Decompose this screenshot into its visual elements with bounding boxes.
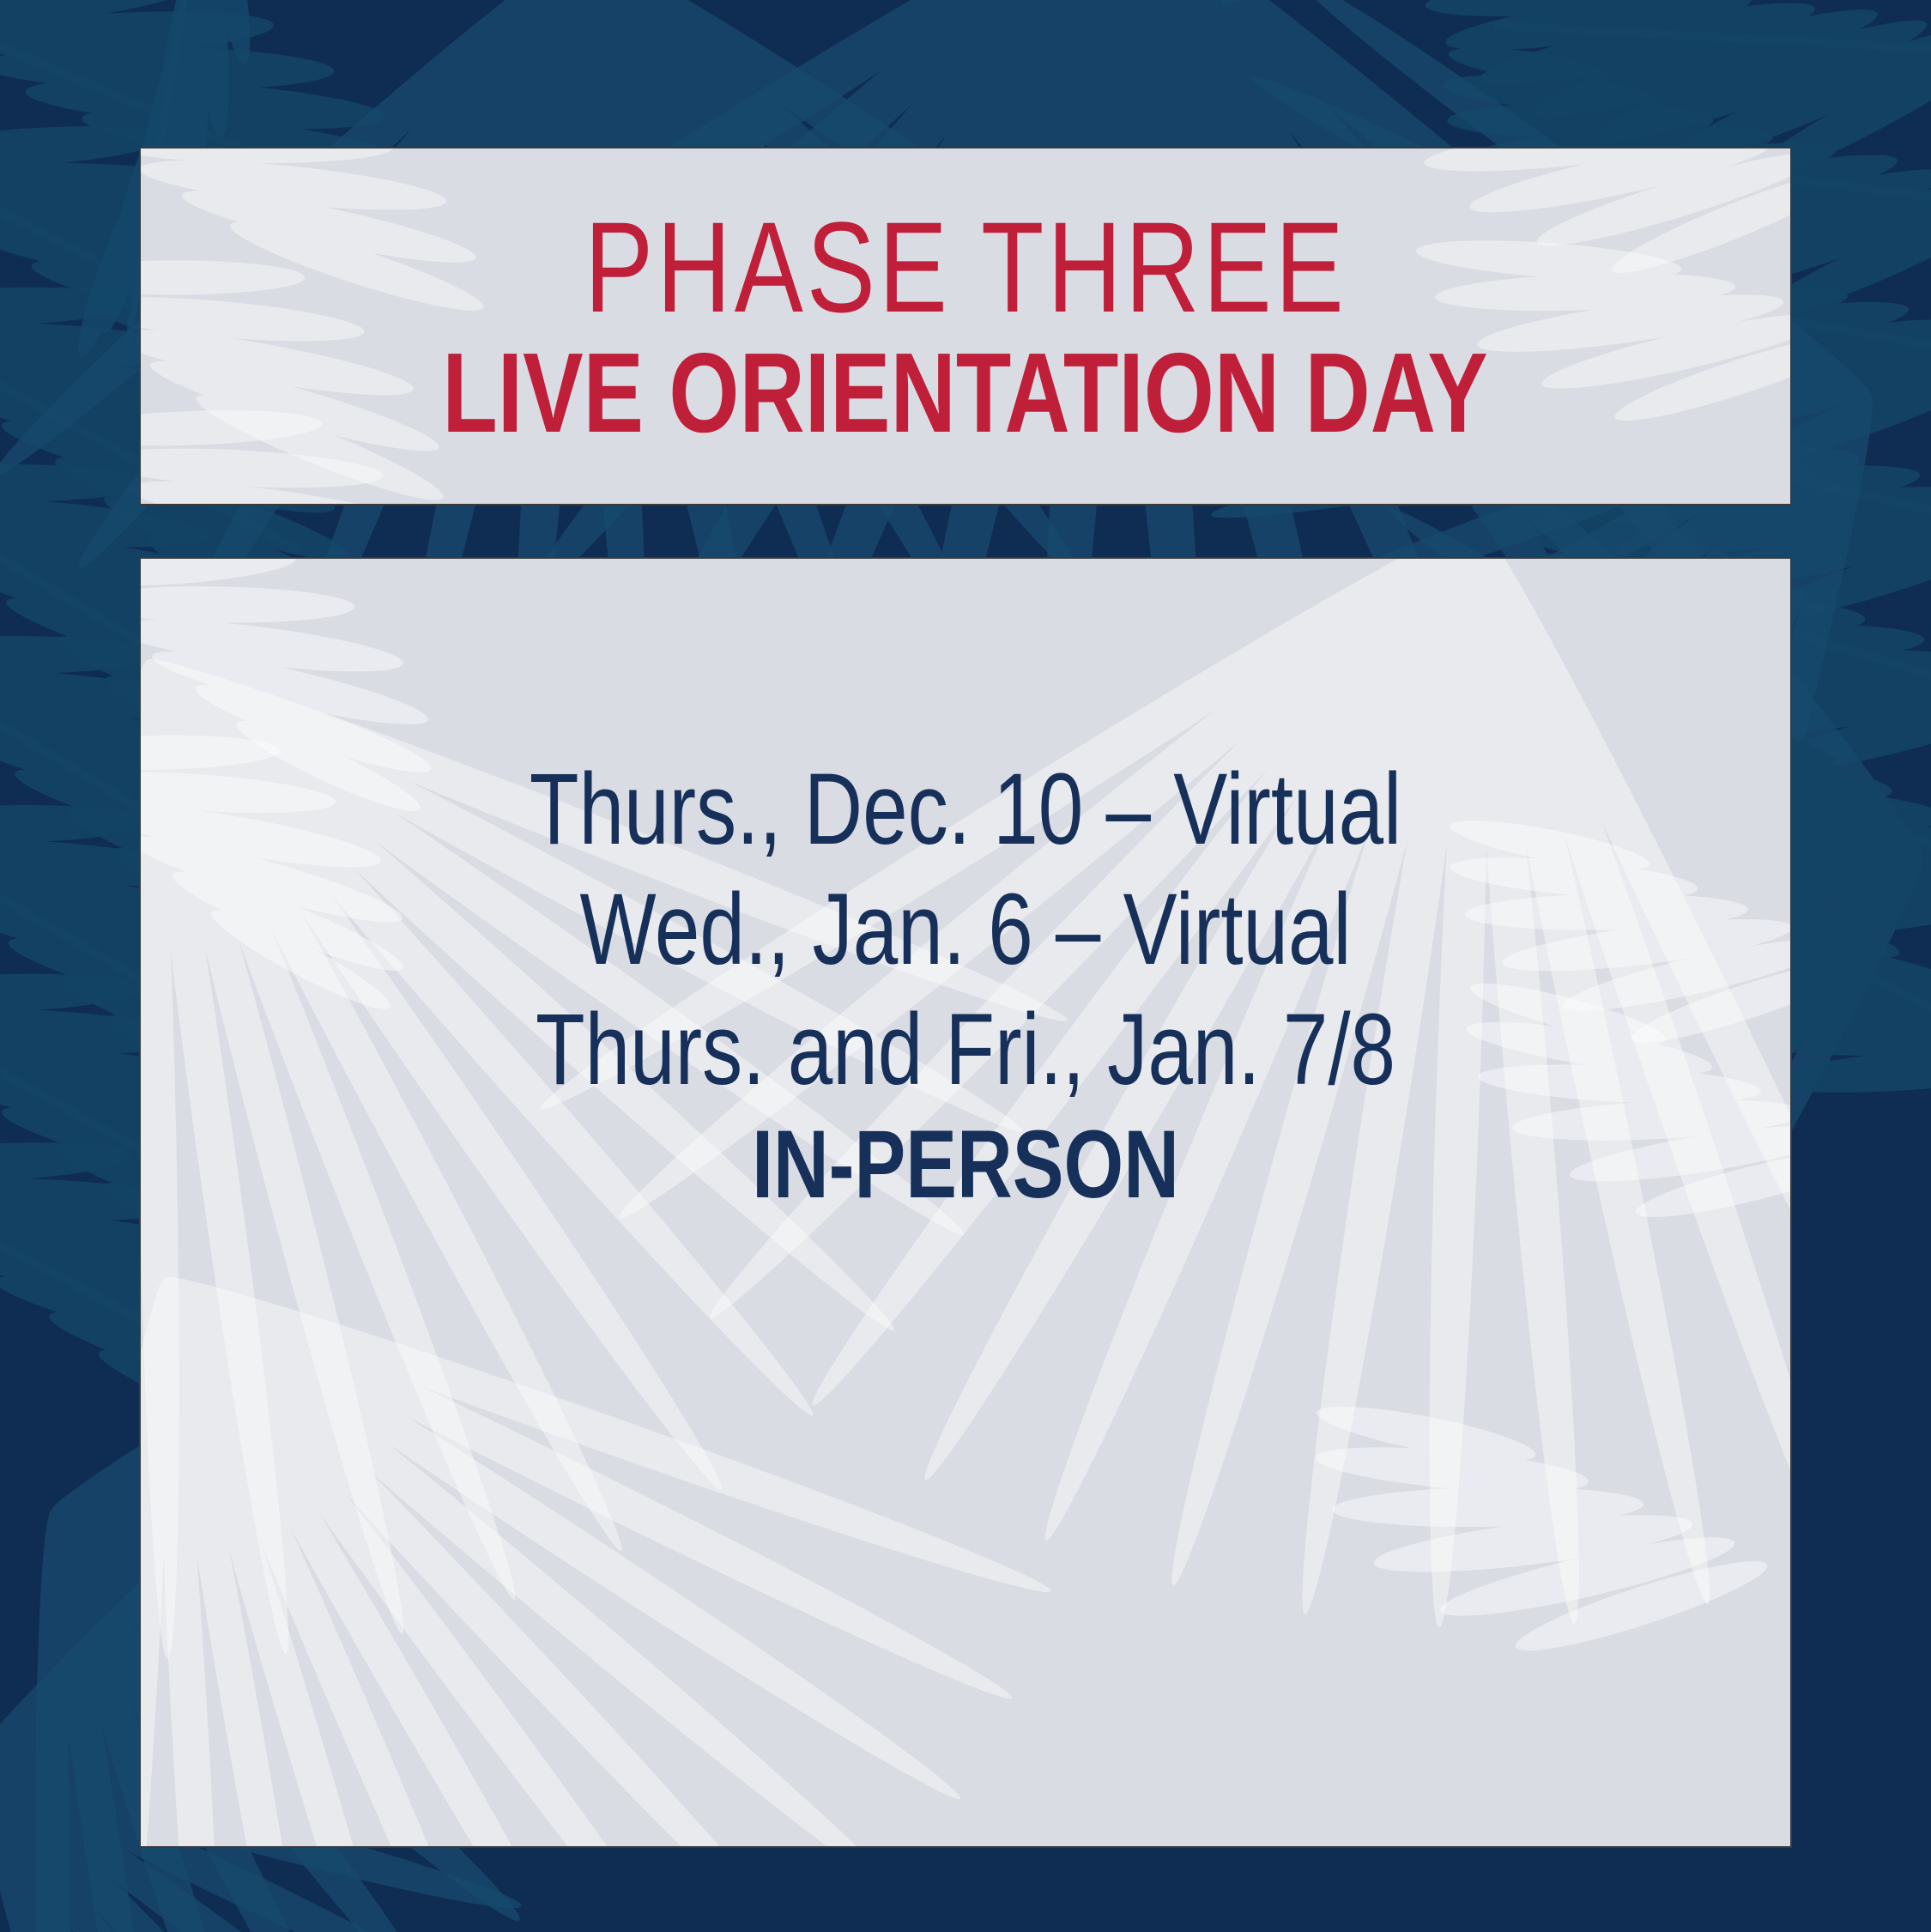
body-panel: Thurs., Dec. 10 – Virtual Wed., Jan. 6 –… <box>139 557 1792 1848</box>
header-content: PHASE THREE LIVE ORIENTATION DAY <box>141 148 1790 504</box>
date-line-1: Thurs., Dec. 10 – Virtual <box>306 749 1625 869</box>
in-person-label: IN-PERSON <box>306 1110 1625 1220</box>
poster-canvas: PHASE THREE LIVE ORIENTATION DAY <box>0 0 1931 1932</box>
date-line-2: Wed., Jan. 6 – Virtual <box>306 869 1625 990</box>
body-content: Thurs., Dec. 10 – Virtual Wed., Jan. 6 –… <box>141 749 1790 1220</box>
page-title: PHASE THREE <box>584 203 1347 331</box>
header-panel: PHASE THREE LIVE ORIENTATION DAY <box>139 147 1792 506</box>
date-line-3: Thurs. and Fri., Jan. 7/8 <box>306 990 1625 1110</box>
page-subtitle: LIVE ORIENTATION DAY <box>443 336 1488 450</box>
